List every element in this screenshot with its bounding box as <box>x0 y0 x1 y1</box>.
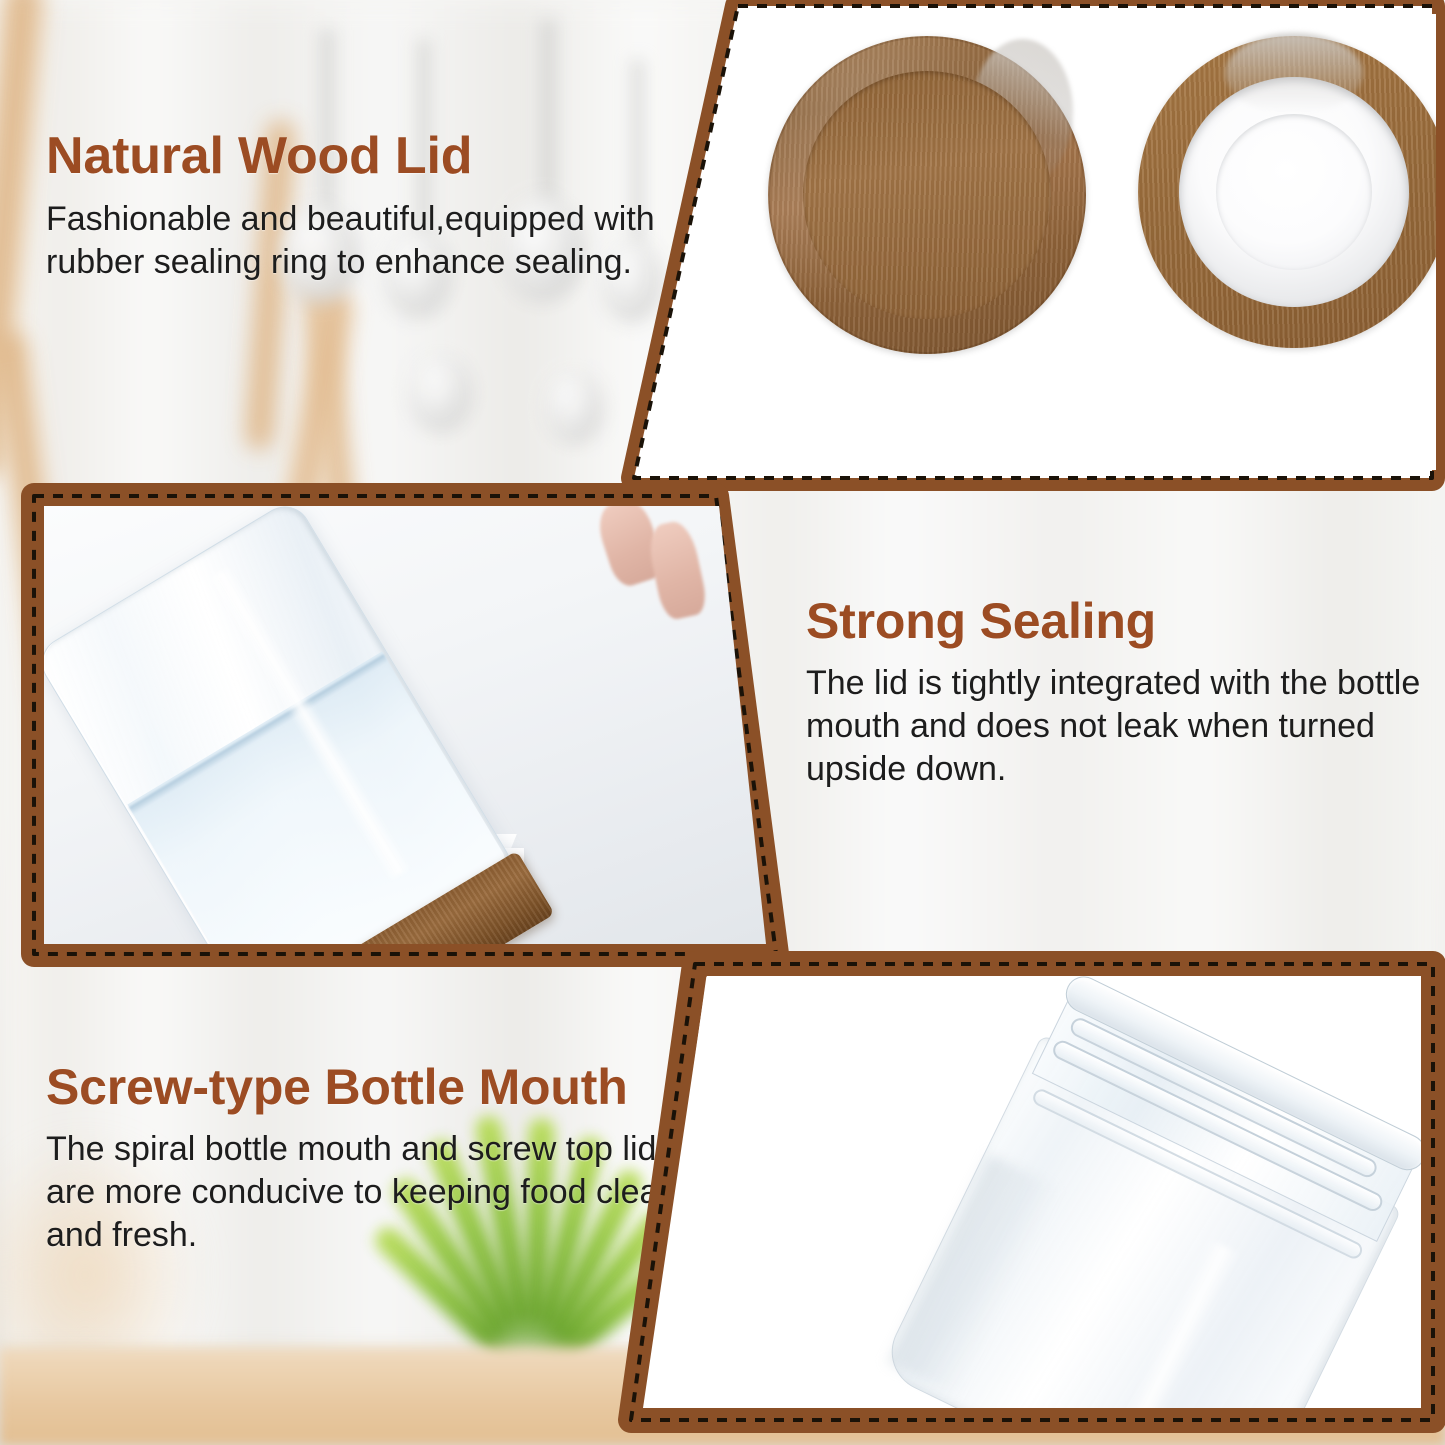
wood-lid-photo <box>646 14 1436 470</box>
upside-down-bottle-photo <box>44 506 766 944</box>
feature-heading-wood-lid: Natural Wood Lid <box>46 130 671 182</box>
tilted-glass-jar <box>878 976 1421 1408</box>
infographic-root: Natural Wood Lid Fashionable and beautif… <box>0 0 1445 1445</box>
jar-glass-highlight <box>1078 1239 1240 1408</box>
feature-body-bottle-mouth: The spiral bottle mouth and screw top li… <box>46 1128 686 1256</box>
photo-panel-screw-bottle-mouth <box>615 950 1445 1435</box>
jar-inner-shadow <box>888 1154 1062 1398</box>
feature-text-bottle-mouth: Screw-type Bottle Mouth The spiral bottl… <box>46 1062 686 1256</box>
bottle-glass-body <box>44 506 515 944</box>
lid-metal-highlight <box>972 39 1074 185</box>
screw-bottle-mouth-photo <box>643 976 1421 1408</box>
finger-icon <box>645 518 710 621</box>
wood-lid-underside-view <box>1138 36 1436 348</box>
wood-lid-top-view <box>768 36 1086 354</box>
tilted-water-bottle <box>44 506 515 944</box>
metal-spoon-icon <box>408 352 472 432</box>
feature-body-wood-lid: Fashionable and beautiful,equipped with … <box>46 198 671 284</box>
lid-rim-highlight <box>1225 33 1362 114</box>
feature-heading-strong-sealing: Strong Sealing <box>806 596 1421 646</box>
feature-body-strong-sealing: The lid is tightly integrated with the b… <box>806 662 1421 790</box>
feature-text-strong-sealing: Strong Sealing The lid is tightly integr… <box>806 596 1421 790</box>
photo-panel-upside-down-bottle <box>18 480 790 970</box>
feature-text-wood-lid: Natural Wood Lid Fashionable and beautif… <box>46 130 671 284</box>
feature-heading-bottle-mouth: Screw-type Bottle Mouth <box>46 1062 686 1112</box>
photo-panel-wood-lids <box>620 0 1445 492</box>
metal-spoon-icon <box>545 370 603 444</box>
